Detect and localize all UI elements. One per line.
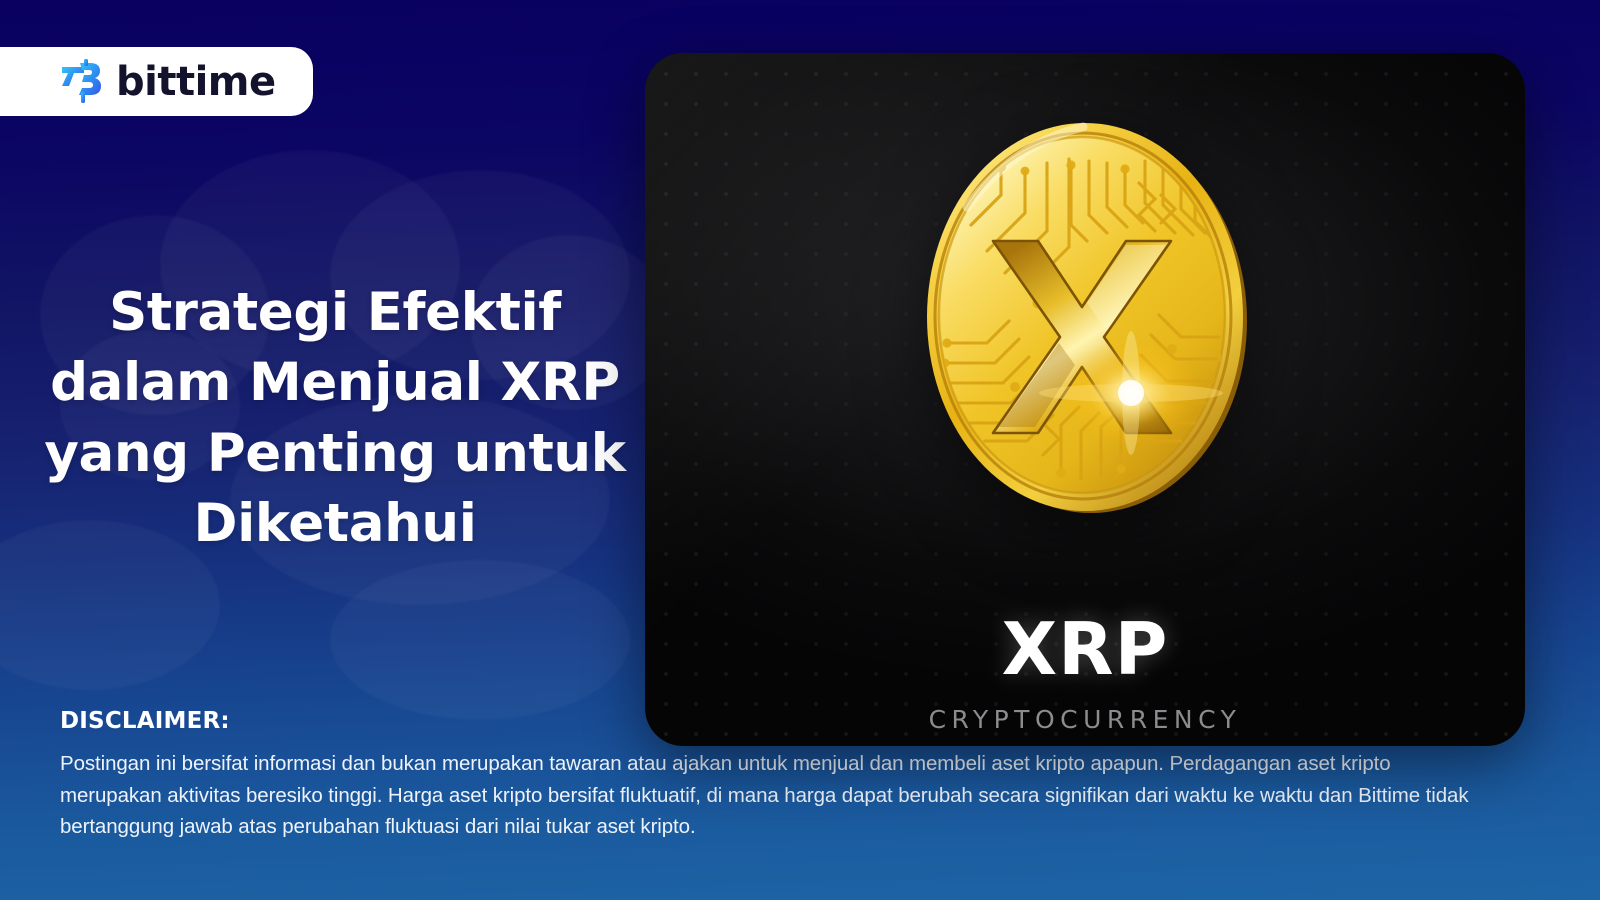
- background-blob: [330, 560, 630, 720]
- coin-ticker-subtitle: CRYPTOCURRENCY: [645, 705, 1525, 734]
- bittime-7b-mark-icon: [60, 59, 104, 105]
- coin-ticker-symbol: XRP: [645, 613, 1525, 685]
- coin-ticker-block: XRP CRYPTOCURRENCY: [645, 613, 1525, 734]
- disclaimer-body: Postingan ini bersifat informasi dan buk…: [60, 748, 1480, 843]
- xrp-gold-coin-icon: [875, 75, 1295, 555]
- xrp-coin-card: XRP CRYPTOCURRENCY: [645, 53, 1525, 746]
- brand-logo-pill[interactable]: bittime: [0, 47, 313, 116]
- social-card-canvas: bittime Strategi Efektif dalam Menjual X…: [0, 0, 1600, 900]
- page-title: Strategi Efektif dalam Menjual XRP yang …: [40, 278, 630, 560]
- brand-wordmark: bittime: [116, 62, 276, 102]
- xrp-coin-illustration: [875, 75, 1295, 555]
